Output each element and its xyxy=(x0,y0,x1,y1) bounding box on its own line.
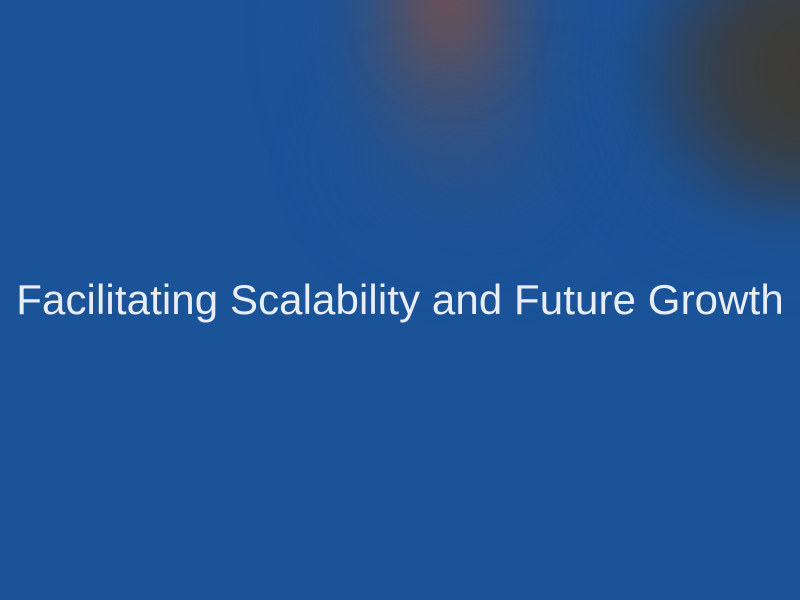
slide-title: Facilitating Scalability and Future Grow… xyxy=(0,276,800,324)
slide-title-block: Facilitating Scalability and Future Grow… xyxy=(0,0,800,600)
presentation-slide: Facilitating Scalability and Future Grow… xyxy=(0,0,800,600)
